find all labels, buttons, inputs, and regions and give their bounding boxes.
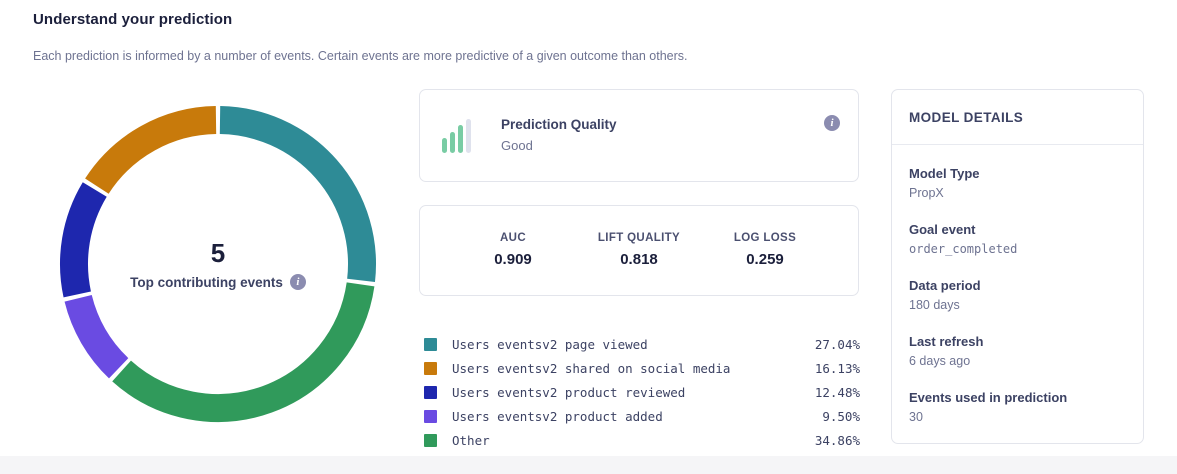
model-detail-label: Last refresh <box>909 332 1126 351</box>
model-detail-row: Last refresh6 days ago <box>909 332 1126 371</box>
model-details-list: Model TypePropXGoal eventorder_completed… <box>892 145 1143 427</box>
prediction-quality-value: Good <box>501 134 617 156</box>
legend-label: Users eventsv2 page viewed <box>452 337 648 352</box>
model-detail-label: Goal event <box>909 220 1126 239</box>
metric-label: LOG LOSS <box>702 230 828 246</box>
model-detail-value: PropX <box>909 183 1126 203</box>
legend-item[interactable]: Users eventsv2 product added9.50% <box>424 404 860 428</box>
legend-color-swatch <box>424 362 437 375</box>
legend-color-swatch <box>424 434 437 447</box>
content-panel: Understand your prediction Each predicti… <box>0 0 1177 456</box>
model-detail-value: 6 days ago <box>909 351 1126 371</box>
legend-item[interactable]: Users eventsv2 page viewed27.04% <box>424 332 860 356</box>
model-detail-row: Model TypePropX <box>909 164 1126 203</box>
donut-legend: Users eventsv2 page viewed27.04%Users ev… <box>424 332 860 452</box>
page-header: Understand your prediction Each predicti… <box>33 10 688 64</box>
donut-slice[interactable] <box>74 190 95 295</box>
prediction-quality-text: Prediction Quality Good <box>501 116 617 156</box>
model-detail-row: Events used in prediction30 <box>909 388 1126 427</box>
legend-label: Other <box>452 433 490 448</box>
legend-percentage: 12.48% <box>815 385 860 400</box>
legend-label: Users eventsv2 product reviewed <box>452 385 685 400</box>
legend-color-swatch <box>424 410 437 423</box>
donut-slice[interactable] <box>220 120 362 280</box>
metrics-column: Prediction Quality Good i AUC 0.909 LIFT… <box>419 89 859 296</box>
model-detail-value: 30 <box>909 407 1126 427</box>
model-detail-value: 180 days <box>909 295 1126 315</box>
legend-label: Users eventsv2 shared on social media <box>452 361 730 376</box>
page-title: Understand your prediction <box>33 10 688 30</box>
prediction-quality-card: Prediction Quality Good i <box>419 89 859 182</box>
legend-percentage: 34.86% <box>815 433 860 448</box>
metric-value: 0.818 <box>576 246 702 271</box>
donut-svg <box>33 79 403 449</box>
legend-label: Users eventsv2 product added <box>452 409 663 424</box>
model-detail-row: Goal eventorder_completed <box>909 220 1126 259</box>
model-detail-label: Events used in prediction <box>909 388 1126 407</box>
metric-lift-quality: LIFT QUALITY 0.818 <box>576 230 702 271</box>
legend-color-swatch <box>424 386 437 399</box>
metric-value: 0.259 <box>702 246 828 271</box>
legend-percentage: 9.50% <box>822 409 860 424</box>
metric-label: LIFT QUALITY <box>576 230 702 246</box>
donut-slice[interactable] <box>122 284 361 408</box>
donut-slice[interactable] <box>78 298 119 368</box>
contributing-events-donut-chart[interactable]: 5 Top contributing events i <box>33 79 403 449</box>
model-metrics-card: AUC 0.909 LIFT QUALITY 0.818 LOG LOSS 0.… <box>419 205 859 296</box>
model-detail-label: Data period <box>909 276 1126 295</box>
prediction-quality-title: Prediction Quality <box>501 116 617 134</box>
legend-percentage: 27.04% <box>815 337 860 352</box>
legend-item[interactable]: Users eventsv2 product reviewed12.48% <box>424 380 860 404</box>
donut-slice[interactable] <box>97 120 216 186</box>
model-details-heading: MODEL DETAILS <box>892 90 1143 145</box>
metric-label: AUC <box>450 230 576 246</box>
model-details-card: MODEL DETAILS Model TypePropXGoal evento… <box>891 89 1144 444</box>
metric-value: 0.909 <box>450 246 576 271</box>
metric-auc: AUC 0.909 <box>450 230 576 271</box>
metric-log-loss: LOG LOSS 0.259 <box>702 230 828 271</box>
legend-color-swatch <box>424 338 437 351</box>
legend-item[interactable]: Other34.86% <box>424 428 860 452</box>
page-subtitle: Each prediction is informed by a number … <box>33 30 688 64</box>
model-detail-value: order_completed <box>909 239 1126 259</box>
model-detail-label: Model Type <box>909 164 1126 183</box>
model-detail-row: Data period180 days <box>909 276 1126 315</box>
info-icon[interactable]: i <box>824 115 840 131</box>
bar-chart-icon <box>442 119 478 153</box>
legend-item[interactable]: Users eventsv2 shared on social media16.… <box>424 356 860 380</box>
legend-percentage: 16.13% <box>815 361 860 376</box>
